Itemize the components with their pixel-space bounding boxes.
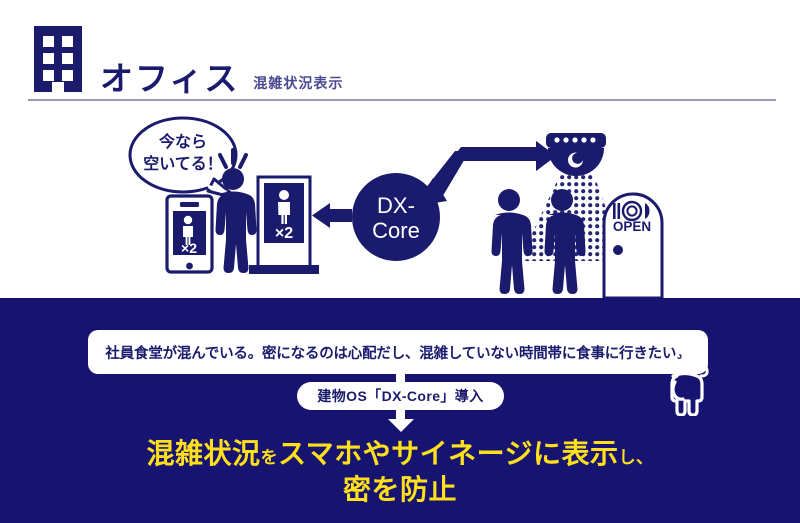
- office-building-icon: [30, 24, 86, 97]
- header-divider: [28, 99, 776, 101]
- dx-core-line1: DX-: [377, 193, 415, 218]
- quote-box: 社員食堂が混んでいる。密になるのは心配だし、混雑していない時間帯に食事に行きたい…: [88, 330, 708, 374]
- header-inner: オフィス 混雑状況表示: [30, 24, 343, 97]
- header: オフィス 混雑状況表示: [0, 0, 800, 105]
- person-with-smartphone-outline-icon: [655, 346, 725, 421]
- page-subtitle: 混雑状況表示: [253, 76, 343, 90]
- smartphone-count-label: ×2: [181, 240, 197, 256]
- headline-part-1: 混雑状況: [146, 438, 260, 469]
- restaurant-door: [604, 194, 662, 298]
- signage-count-label: ×2: [275, 225, 293, 242]
- bottom-panel: 社員食堂が混んでいる。密になるのは心配だし、混雑していない時間帯に食事に行きたい…: [0, 298, 800, 523]
- door-open-label: OPEN: [613, 219, 651, 234]
- smartphone-display: [167, 196, 212, 272]
- speech-bubble-line1: 今なら: [158, 132, 207, 151]
- headline-line-2: 密を防止: [0, 472, 800, 508]
- headline-part-3: スマホやサイネージに表示: [278, 438, 619, 469]
- headline-line-1: 混雑状況をスマホやサイネージに表示し、: [0, 436, 800, 472]
- illustration-area: 今なら 空いてる！ ×2: [0, 105, 800, 298]
- down-caret-icon: [388, 419, 414, 432]
- quote-text: 社員食堂が混んでいる。密になるのは心配だし、混雑していない時間帯に食事に行きたい…: [105, 342, 690, 363]
- headline-part-5: 密を防止: [343, 474, 457, 505]
- infographic-page: オフィス 混雑状況表示 今なら 空いてる！: [0, 0, 800, 523]
- headline-part-2: を: [260, 448, 278, 467]
- connector-line-bottom: [396, 406, 405, 419]
- headline-part-4: し、: [619, 448, 654, 467]
- person-standing-icon: [492, 189, 533, 294]
- adopt-pill-label: 建物OS「DX-Core」導入: [317, 386, 483, 406]
- page-title: オフィス: [100, 62, 239, 95]
- dx-core-line2: Core: [372, 218, 420, 243]
- headline: 混雑状況をスマホやサイネージに表示し、 密を防止: [0, 436, 800, 508]
- arrow-elbow-down-left-icon: [416, 141, 556, 206]
- arrow-left-icon: [312, 203, 352, 228]
- ceiling-dome-camera-icon: [546, 133, 606, 176]
- speech-bubble-line2: 空いてる！: [143, 154, 223, 173]
